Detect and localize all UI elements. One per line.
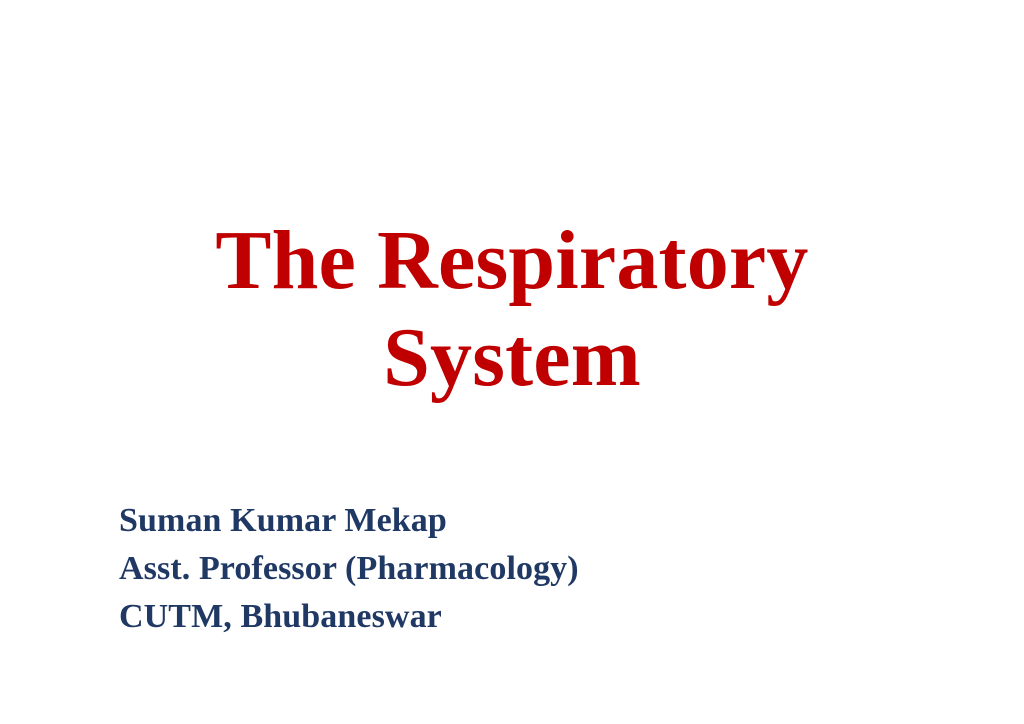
presenter-designation: Asst. Professor (Pharmacology)	[119, 545, 879, 593]
page-title-line-1: The Respiratory	[152, 212, 872, 309]
page-title: The Respiratory System	[152, 212, 872, 406]
presenter-affiliation: CUTM, Bhubaneswar	[119, 593, 879, 641]
title-slide: The Respiratory System Suman Kumar Mekap…	[0, 0, 1024, 724]
page-title-line-2: System	[152, 309, 872, 406]
presenter-name: Suman Kumar Mekap	[119, 497, 879, 545]
title-block: The Respiratory System	[152, 212, 872, 406]
presenter-info-block: Suman Kumar Mekap Asst. Professor (Pharm…	[119, 497, 879, 641]
